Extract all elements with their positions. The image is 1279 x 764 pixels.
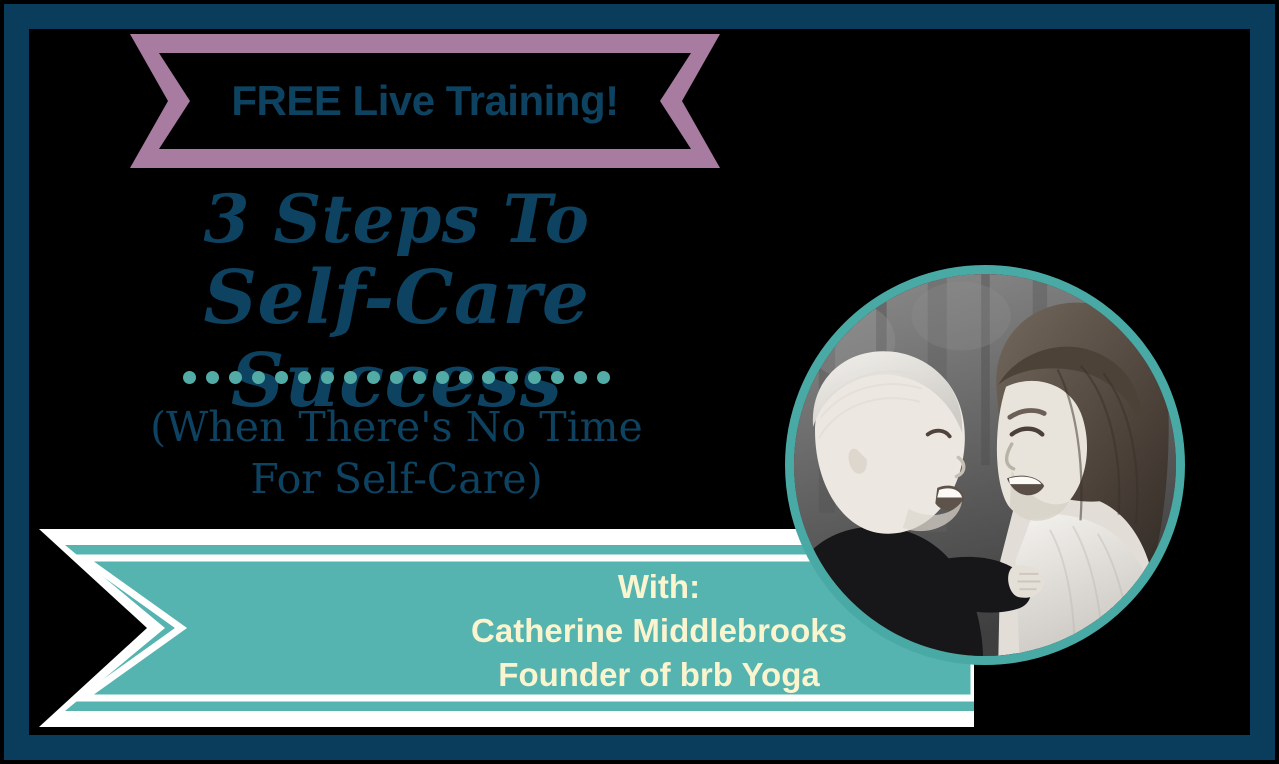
promo-poster: FREE Live Training! 3 Steps To Self-Care… — [0, 0, 1279, 764]
free-training-ribbon: FREE Live Training! — [130, 34, 720, 168]
divider-dot — [367, 371, 380, 384]
presenter-photo-image — [794, 274, 1176, 656]
presenter-role: Founder of brb Yoga — [419, 653, 899, 697]
divider-dot — [390, 371, 403, 384]
page-title: 3 Steps To Self-Care Success — [29, 184, 764, 423]
divider-dot — [459, 371, 472, 384]
dotted-divider — [29, 371, 764, 384]
headline-line-2: Self-Care Success — [29, 257, 764, 423]
subtitle-line-1: (When There's No Time — [29, 401, 764, 453]
divider-dot — [482, 371, 495, 384]
photo-illustration — [794, 274, 1176, 656]
divider-dot — [298, 371, 311, 384]
presenter-photo — [785, 265, 1185, 665]
poster-content-area: FREE Live Training! 3 Steps To Self-Care… — [29, 29, 1250, 735]
divider-dot — [321, 371, 334, 384]
divider-dot — [275, 371, 288, 384]
divider-dot — [528, 371, 541, 384]
subtitle-line-2: For Self-Care) — [29, 453, 764, 505]
divider-dot — [229, 371, 242, 384]
subtitle: (When There's No Time For Self-Care) — [29, 401, 764, 506]
divider-dot — [505, 371, 518, 384]
divider-dot — [436, 371, 449, 384]
free-training-label: FREE Live Training! — [130, 34, 720, 168]
presenter-name: Catherine Middlebrooks — [419, 609, 899, 653]
divider-dot — [413, 371, 426, 384]
divider-dot — [574, 371, 587, 384]
divider-dot — [183, 371, 196, 384]
divider-dot — [597, 371, 610, 384]
divider-dot — [252, 371, 265, 384]
divider-dot — [344, 371, 357, 384]
divider-dot — [551, 371, 564, 384]
divider-dot — [206, 371, 219, 384]
headline-line-1: 3 Steps To — [29, 184, 764, 255]
